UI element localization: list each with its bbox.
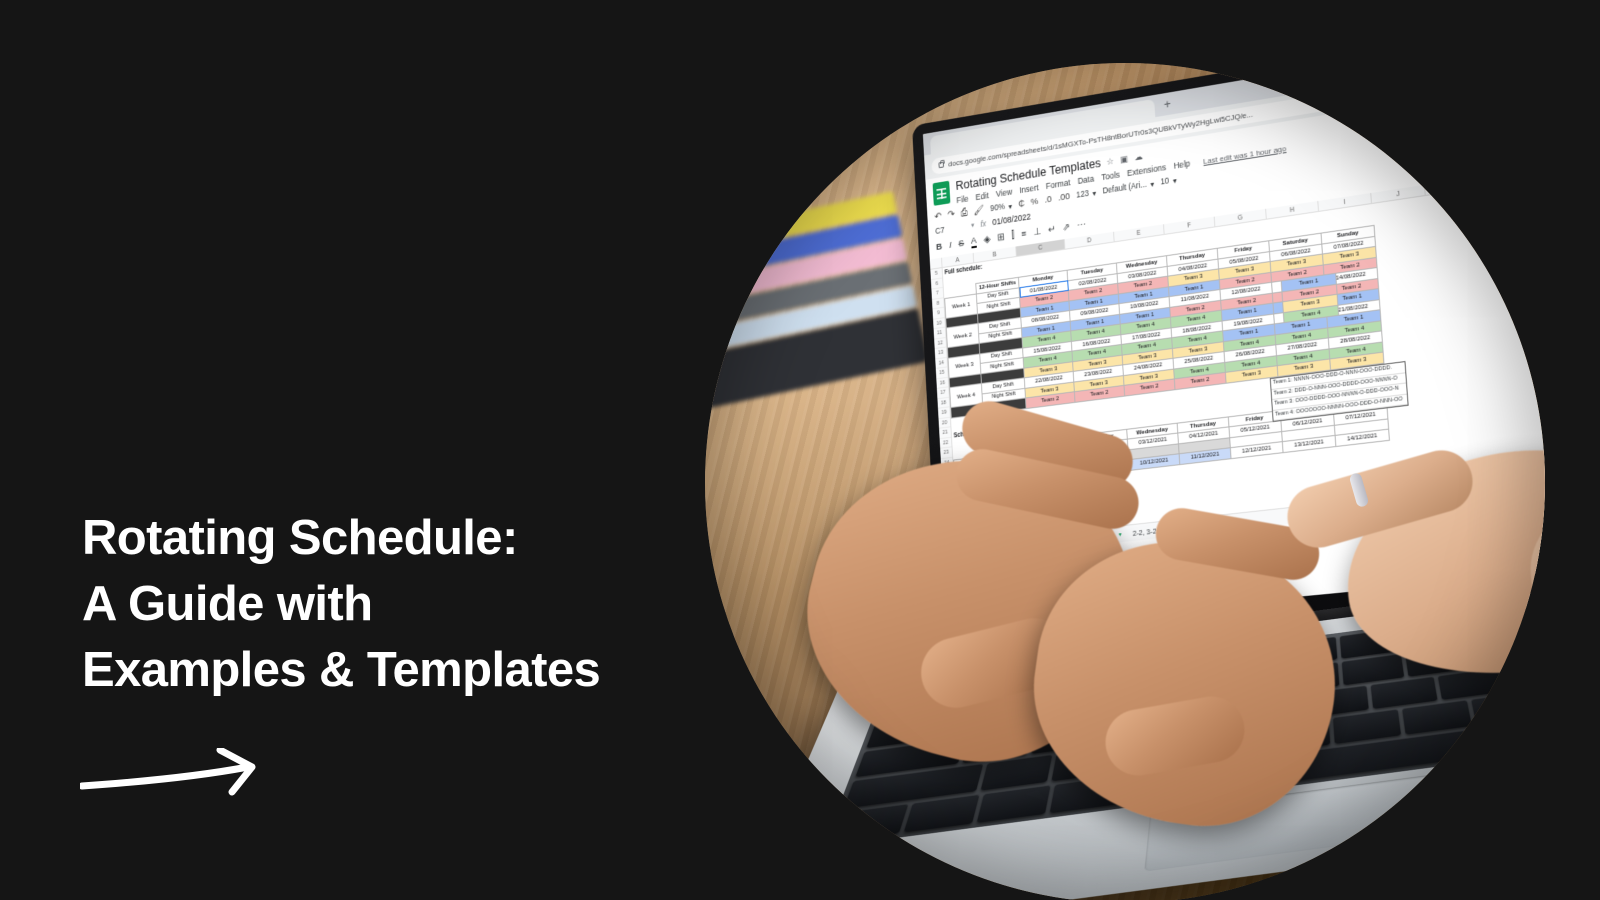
hero-line-3: Examples & Templates (82, 637, 682, 703)
move-to-folder-icon[interactable]: ▣ (1120, 153, 1128, 165)
extension-orange[interactable] (1517, 64, 1528, 76)
strikethrough-button[interactable]: S (958, 238, 964, 249)
key (977, 785, 1051, 823)
chevron-down-icon: ▾ (1008, 201, 1012, 211)
zoom-selector[interactable]: 90% ▾ (990, 201, 1012, 214)
hero-heading: Rotating Schedule: A Guide with Examples… (82, 505, 682, 703)
title-icons: ☆ ▣ ☁ (1106, 151, 1143, 167)
arrow-right-icon[interactable] (80, 748, 280, 798)
chevron-down-icon[interactable]: ▾ (971, 221, 975, 229)
menu-help[interactable]: Help (1173, 158, 1190, 170)
key (831, 804, 909, 843)
key (1333, 709, 1401, 744)
share-page-icon[interactable]: ⤴ (1446, 74, 1456, 89)
menu-edit[interactable]: Edit (975, 191, 989, 203)
page-root: Rotating Schedule: A Guide with Examples… (0, 0, 1600, 900)
hero-line-1: Rotating Schedule: (82, 505, 682, 571)
laptop-photo: + docs.google.com/spreadsheets/d/1sMGXTo… (705, 63, 1545, 900)
extension-green[interactable] (1530, 63, 1541, 73)
new-tab-button[interactable]: + (1163, 97, 1171, 112)
horizontal-align-icon[interactable]: ≡ (1021, 228, 1027, 239)
star-icon[interactable]: ☆ (1106, 156, 1114, 168)
team-legend[interactable]: Team 1Team 2Team 3Team 4 (1281, 273, 1339, 323)
more-options-icon[interactable]: ⋯ (1077, 219, 1086, 231)
font-size-selector[interactable]: 10 ▾ (1160, 175, 1177, 187)
bold-button[interactable]: B (936, 241, 943, 252)
extension-purple[interactable] (1503, 66, 1514, 78)
extensions-row: M (1475, 63, 1545, 82)
extension-blue[interactable] (1544, 63, 1545, 71)
chevron-down-icon: ▾ (1150, 178, 1154, 188)
hero-line-2: A Guide with (82, 571, 682, 637)
fill-color-icon[interactable]: ◈ (983, 234, 990, 245)
key (904, 794, 980, 832)
menu-file[interactable]: File (956, 194, 969, 205)
vertical-align-icon[interactable]: ⊥ (1033, 226, 1041, 238)
cloud-saved-icon[interactable]: ☁ (1134, 151, 1143, 163)
star-icon[interactable]: ☆ (1461, 73, 1470, 85)
font-size-value: 10 (1160, 176, 1169, 186)
italic-button[interactable]: I (949, 240, 952, 251)
number-format-value: 123 (1076, 189, 1089, 200)
text-wrap-icon[interactable]: ↵ (1048, 224, 1056, 236)
chevron-down-icon: ▾ (1092, 187, 1096, 197)
menu-insert[interactable]: Insert (1019, 183, 1039, 196)
key (1471, 691, 1543, 725)
paint-format-icon[interactable]: 🖌 (973, 205, 984, 217)
text-color-button[interactable]: A (971, 235, 977, 248)
increase-decimal-icon[interactable]: .00 (1058, 191, 1071, 203)
lock-icon (938, 162, 944, 168)
percent-icon[interactable]: % (1030, 196, 1038, 208)
key (1402, 700, 1472, 735)
extension-red[interactable] (1489, 68, 1500, 80)
menu-data[interactable]: Data (1077, 174, 1094, 186)
menu-view[interactable]: View (996, 187, 1013, 199)
merge-cells-icon[interactable]: ⫿ (1011, 230, 1014, 241)
fx-label: fx (980, 219, 986, 229)
extension-dark-reader[interactable] (1475, 70, 1486, 82)
zoom-value: 90% (990, 202, 1005, 213)
decrease-decimal-icon[interactable]: .0 (1044, 194, 1052, 206)
chevron-down-icon[interactable]: ▾ (1119, 531, 1122, 538)
google-sheets-icon[interactable] (933, 181, 951, 206)
borders-icon[interactable]: ⊞ (997, 232, 1005, 244)
text-rotation-icon[interactable]: ⇗ (1062, 222, 1070, 234)
undo-icon[interactable]: ↶ (934, 211, 942, 222)
print-icon[interactable]: ⎙ (960, 207, 967, 218)
redo-icon[interactable]: ↷ (947, 209, 955, 220)
legend-block: Team 1Team 2Team 3Team 4 (1281, 273, 1339, 323)
number-format-selector[interactable]: 123 ▾ (1076, 187, 1096, 200)
chevron-down-icon: ▾ (1173, 175, 1177, 185)
menu-tools[interactable]: Tools (1101, 170, 1120, 183)
currency-icon[interactable]: ₵ (1018, 198, 1025, 209)
